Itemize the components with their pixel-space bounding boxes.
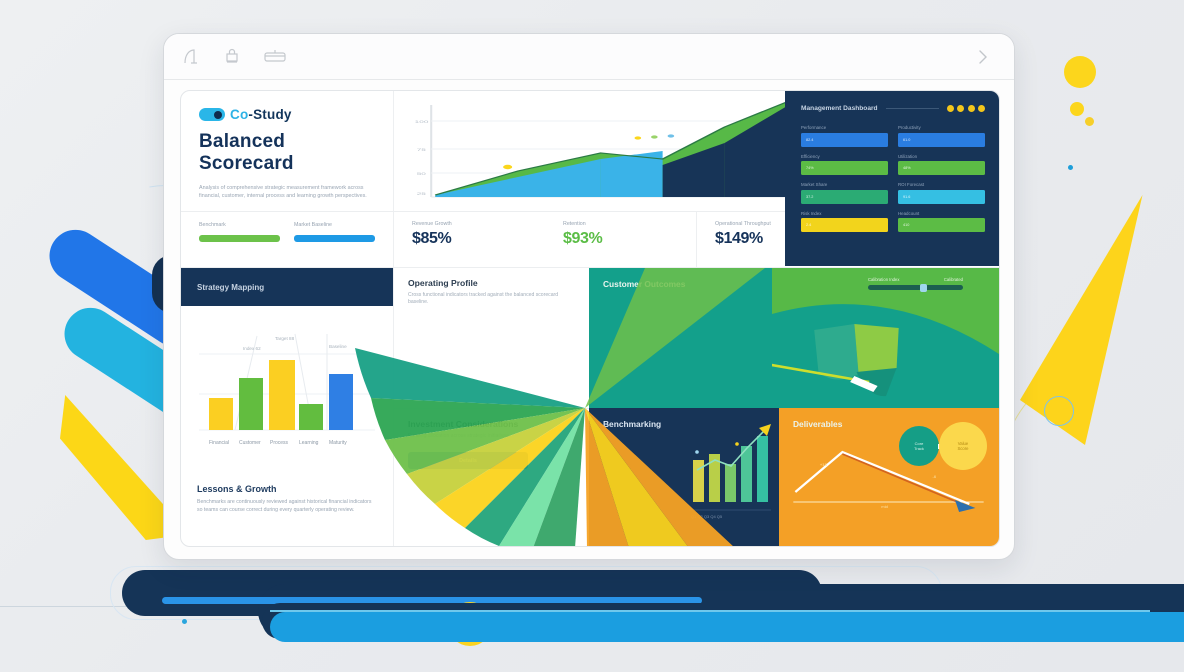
decorative-ring-blue	[1044, 396, 1074, 426]
growth-panel-paragraph: Cross functional indicators tracked agai…	[408, 292, 575, 307]
insights-column: Operating Profile Cross functional indic…	[393, 268, 589, 547]
metric-bar: 37.2	[801, 190, 888, 204]
benchmarking-panel: Benchmarking Q1 Q2 Q3	[589, 408, 779, 547]
cursor-icon[interactable]	[182, 48, 202, 66]
investment-panel-heading: Investment Considerations	[408, 419, 575, 429]
calibration-slider-labels: Calibration Index Calibrated	[868, 277, 963, 282]
logo-text-accent: -Study	[248, 107, 291, 122]
status-dot[interactable]	[957, 105, 964, 112]
management-dashboard-title: Management Dashboard	[801, 105, 878, 112]
logo-wordmark: Co-Study	[230, 107, 292, 122]
kpi-card: Revenue Growth $85%	[394, 212, 545, 267]
metric-bar: 61.0	[898, 133, 985, 147]
metric-bar: 74%	[801, 161, 888, 175]
calibration-slider-track[interactable]	[868, 285, 963, 290]
metric-value: 2.4	[806, 223, 811, 227]
metric-cell: Efficiency 74%	[801, 154, 888, 176]
growth-panel-heading: Operating Profile	[408, 278, 575, 288]
decorative-dot-blue-bottom	[182, 619, 187, 624]
benchmarking-chart-svg: Q1 Q2 Q3 Q4 Q5	[589, 408, 779, 547]
investment-panel-paragraph: Funding allocation across strategic init…	[408, 433, 575, 440]
badge-core-line-2: Track	[914, 446, 924, 451]
svg-text:mid: mid	[881, 504, 888, 509]
browser-window: Co-Study Balanced Scorecard Analysis of …	[163, 33, 1015, 560]
svg-text:Maturity: Maturity	[329, 440, 347, 446]
calibration-slider[interactable]: Calibration Index Calibrated	[868, 277, 963, 290]
chevron-right-icon[interactable]	[976, 47, 990, 67]
metric-bar: 410	[898, 218, 985, 232]
legend-item-benchmark: Benchmark	[199, 222, 280, 267]
metric-label: Utilization	[898, 154, 985, 159]
decorative-dot-yellow-small	[1085, 117, 1094, 126]
status-dot[interactable]	[947, 105, 954, 112]
decorative-dot-yellow-medium	[1070, 102, 1084, 116]
svg-text:-6: -6	[932, 474, 936, 479]
legend-progress-bar	[199, 235, 280, 242]
status-dot[interactable]	[978, 105, 985, 112]
decorative-ribbon-cyan-hairline	[270, 610, 1150, 612]
metric-label: Headcount	[898, 211, 985, 216]
strategy-column: Strategy Mapping	[181, 268, 393, 547]
browser-icon[interactable]	[262, 48, 288, 66]
decorative-dot-yellow-large	[1064, 56, 1096, 88]
visual-row-top: Customer Outcomes	[589, 268, 999, 408]
svg-text:100: 100	[415, 120, 429, 124]
growth-panel: Operating Profile Cross functional indic…	[394, 268, 589, 408]
metric-value: 91.6	[903, 195, 910, 199]
hero-paragraph: Analysis of comprehensive strategic meas…	[199, 184, 375, 200]
metric-cell: Risk Index 2.4	[801, 211, 888, 233]
deliverables-panel: Deliverables +18 -6 mid Core Tr	[779, 408, 999, 547]
kpi-value: $93%	[563, 230, 696, 248]
calibration-slider-label: Calibration Index	[868, 277, 899, 282]
browser-toolbar	[164, 34, 1014, 80]
metric-cell: Utilization 48%	[898, 154, 985, 176]
metric-value: 37.2	[806, 195, 813, 199]
badge-core-track: Core Track	[899, 426, 939, 466]
lessons-learned-title: Lessons & Growth	[197, 484, 377, 494]
svg-text:Q1 Q2 Q3 Q4 Q5: Q1 Q2 Q3 Q4 Q5	[691, 514, 723, 519]
calibration-panel: Calibration Index Calibrated	[772, 268, 999, 408]
page-title: Balanced Scorecard	[199, 131, 375, 175]
details-button[interactable]: Details	[408, 452, 528, 469]
metric-bar: 91.6	[898, 190, 985, 204]
kpi-number: 93%	[572, 230, 603, 247]
metric-cell: Performance 82.4	[801, 125, 888, 147]
metric-label: ROI Forecast	[898, 182, 985, 187]
metric-cell: Market Share 37.2	[801, 182, 888, 204]
metric-label: Efficiency	[801, 154, 888, 159]
svg-text:Financial: Financial	[209, 440, 229, 446]
status-dot-group	[947, 105, 986, 112]
kpi-currency-symbol: $	[563, 230, 572, 247]
visual-row-bottom: Benchmarking Q1 Q2 Q3	[589, 408, 999, 547]
decorative-dot-blue	[1068, 165, 1073, 170]
calibration-slider-knob[interactable]	[920, 284, 927, 292]
metric-value: 74%	[806, 166, 814, 170]
metric-grid: Performance 82.4 Productivity 61.0 Effic…	[801, 125, 985, 232]
dashboard-body: Strategy Mapping	[181, 268, 999, 547]
legend-label: Benchmark	[199, 222, 280, 228]
logo-text-primary: Co	[230, 107, 248, 122]
metric-bar: 2.4	[801, 218, 888, 232]
svg-text:Learning: Learning	[299, 440, 319, 446]
metric-cell: Headcount 410	[898, 211, 985, 233]
svg-text:Process: Process	[270, 440, 289, 446]
brand-logo[interactable]: Co-Study	[199, 107, 375, 122]
customer-outcomes-heading: Customer Outcomes	[603, 279, 685, 289]
metric-cell: Productivity 61.0	[898, 125, 985, 147]
kpi-label: Retention	[563, 221, 696, 227]
metric-value: 82.4	[806, 138, 813, 142]
svg-text:25: 25	[417, 192, 427, 196]
kpi-card: Retention $93%	[545, 212, 696, 267]
legend-progress-bar	[294, 235, 375, 242]
trend-chart: 100 75 50 25	[393, 91, 799, 211]
svg-text:Index 62: Index 62	[243, 346, 261, 351]
lessons-learned-card: Lessons & Growth Benchmarks are continuo…	[181, 474, 393, 514]
kpi-currency-symbol: $	[412, 230, 421, 247]
svg-text:75: 75	[417, 148, 427, 152]
svg-text:Baseline: Baseline	[329, 344, 347, 349]
hero-text-block: Co-Study Balanced Scorecard Analysis of …	[181, 91, 393, 211]
legend-item-baseline: Market Baseline	[294, 222, 375, 267]
metric-cell: ROI Forecast 91.6	[898, 182, 985, 204]
lock-icon[interactable]	[222, 48, 242, 66]
lessons-learned-body: Benchmarks are continuously reviewed aga…	[197, 499, 377, 514]
kpi-number: 85%	[421, 230, 452, 247]
metric-label: Performance	[801, 125, 888, 130]
management-dashboard-header: Management Dashboard	[801, 105, 985, 112]
details-button-label: Details	[459, 458, 477, 464]
visual-column: Customer Outcomes	[589, 268, 999, 547]
strategy-header: Strategy Mapping	[181, 268, 393, 306]
decorative-ribbon-cyan	[270, 612, 1184, 642]
trend-chart-svg: 100 75 50 25	[394, 91, 799, 211]
metric-bar: 48%	[898, 161, 985, 175]
investment-panel: Investment Considerations Funding alloca…	[394, 408, 589, 547]
kpi-currency-symbol: $	[715, 230, 724, 247]
svg-text:50: 50	[417, 172, 427, 176]
management-dashboard-panel: Management Dashboard Performance 82.4 Pr…	[785, 91, 999, 266]
page-title-line-2: Scorecard	[199, 153, 375, 175]
metric-label: Productivity	[898, 125, 985, 130]
svg-text:+18: +18	[820, 462, 828, 467]
logo-mark-icon	[199, 108, 225, 121]
svg-text:Customer: Customer	[239, 440, 261, 446]
kpi-value: $85%	[412, 230, 545, 248]
strategy-bar-chart: Index 62 Target 88 Baseline Financial Cu…	[181, 306, 393, 474]
metric-label: Market Share	[801, 182, 888, 187]
deliverables-heading: Deliverables	[793, 419, 842, 429]
metric-label: Risk Index	[801, 211, 888, 216]
strategy-header-label: Strategy Mapping	[197, 283, 264, 292]
status-dot[interactable]	[968, 105, 975, 112]
metric-value: 61.0	[903, 138, 910, 142]
badge-value-score: Value Score	[939, 422, 987, 470]
metric-bar: 82.4	[801, 133, 888, 147]
calibration-slider-value: Calibrated	[944, 277, 963, 282]
metric-value: 410	[903, 223, 909, 227]
page-title-line-1: Balanced	[199, 131, 375, 153]
badge-value-line-2: Score	[958, 446, 969, 451]
legend-group: Benchmark Market Baseline	[181, 212, 393, 267]
dashboard-page: Co-Study Balanced Scorecard Analysis of …	[180, 90, 1000, 547]
customer-outcomes-panel: Customer Outcomes	[589, 268, 772, 408]
metric-value: 48%	[903, 166, 911, 170]
svg-text:Target 88: Target 88	[275, 336, 295, 341]
legend-label: Market Baseline	[294, 222, 375, 228]
strategy-bar-chart-svg: Index 62 Target 88 Baseline Financial Cu…	[195, 306, 379, 474]
kpi-label: Revenue Growth	[412, 221, 545, 227]
header-divider	[886, 108, 939, 109]
kpi-number: 149%	[724, 230, 763, 247]
